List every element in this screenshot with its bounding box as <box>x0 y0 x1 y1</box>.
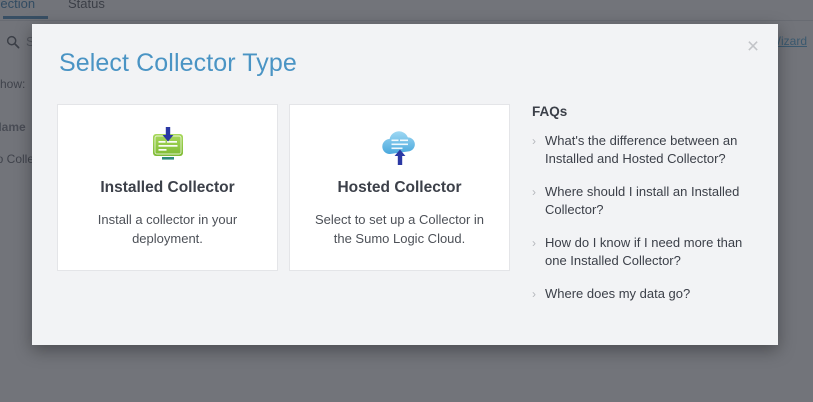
hosted-collector-title: Hosted Collector <box>290 179 509 197</box>
faq-item-label: Where should I install an Installed Coll… <box>545 184 739 217</box>
hosted-collector-description: Select to set up a Collector in the Sumo… <box>306 210 493 248</box>
faqs-panel: FAQs › What's the difference between an … <box>532 104 757 318</box>
faq-item[interactable]: › Where does my data go? <box>532 285 757 303</box>
faq-item-label: What's the difference between an Install… <box>545 133 737 166</box>
installed-collector-description: Install a collector in your deployment. <box>74 210 261 248</box>
installed-collector-card[interactable]: Installed Collector Install a collector … <box>57 104 278 271</box>
faq-item[interactable]: › How do I know if I need more than one … <box>532 234 757 270</box>
chevron-right-icon: › <box>532 234 536 252</box>
hosted-collector-card[interactable]: Hosted Collector Select to set up a Coll… <box>289 104 510 271</box>
monitor-download-icon <box>58 124 277 170</box>
installed-collector-title: Installed Collector <box>58 179 277 197</box>
faqs-heading: FAQs <box>532 104 757 119</box>
dialog-title: Select Collector Type <box>59 49 297 78</box>
faq-item-label: Where does my data go? <box>545 286 690 301</box>
faq-item-label: How do I know if I need more than one In… <box>545 235 742 268</box>
faq-item[interactable]: › Where should I install an Installed Co… <box>532 183 757 219</box>
chevron-right-icon: › <box>532 183 536 201</box>
chevron-right-icon: › <box>532 132 536 150</box>
chevron-right-icon: › <box>532 285 536 303</box>
faq-item[interactable]: › What's the difference between an Insta… <box>532 132 757 168</box>
cloud-upload-icon <box>290 124 509 170</box>
close-icon[interactable]: × <box>741 35 765 59</box>
select-collector-type-dialog: × Select Collector Type <box>32 24 778 345</box>
